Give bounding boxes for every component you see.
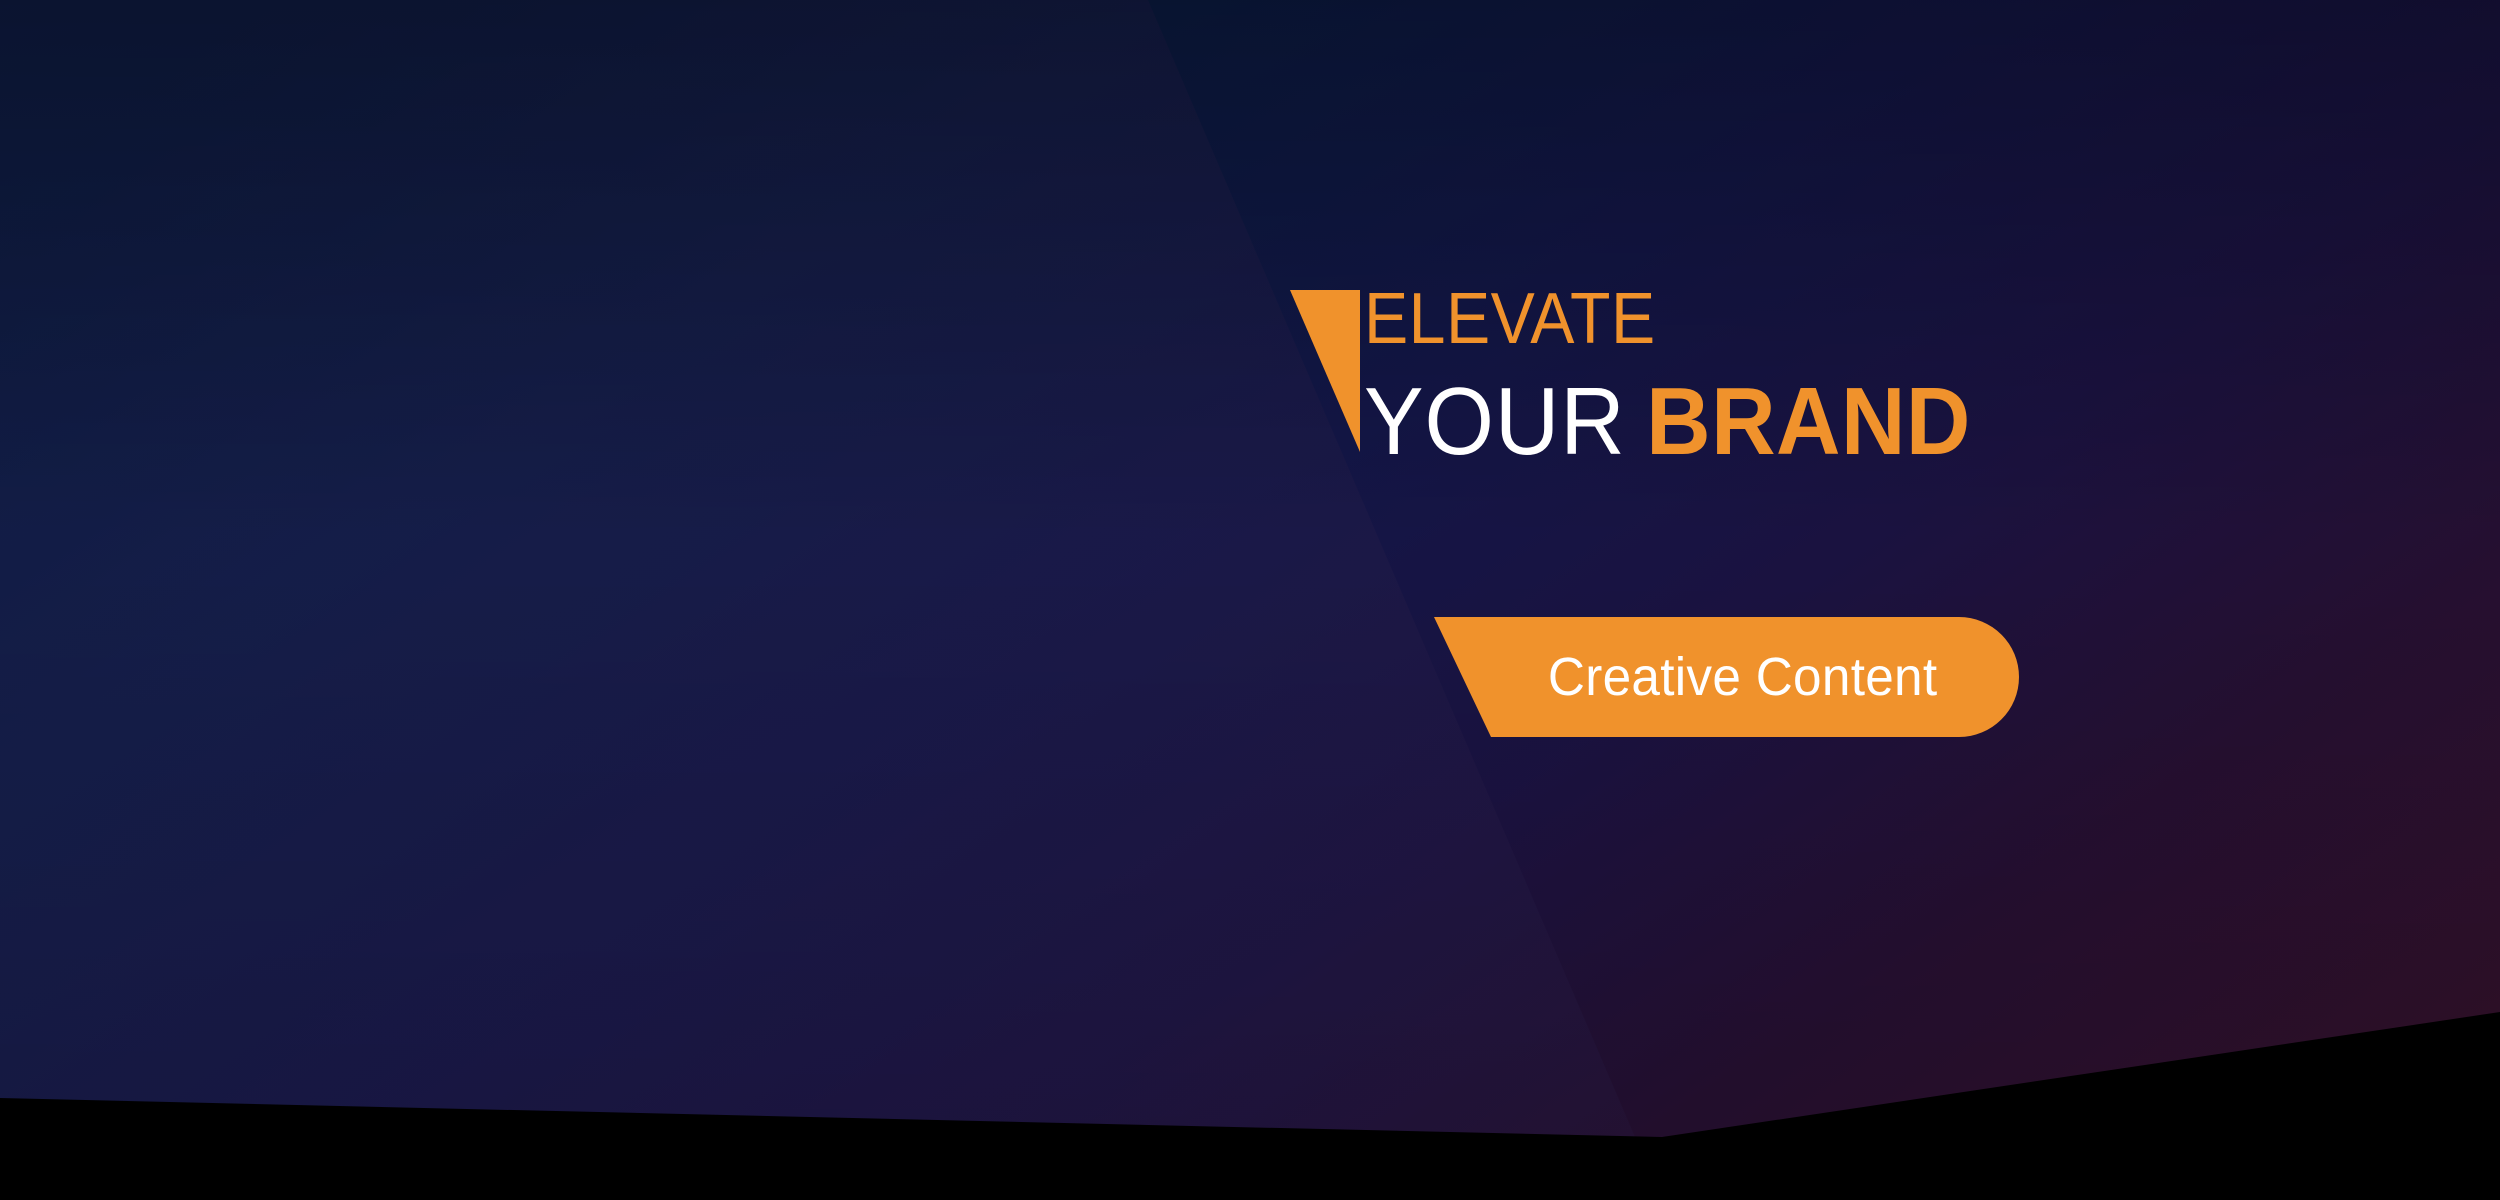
creative-content-cta-button[interactable]: Creative Content [1434,617,2019,737]
banner-background [0,0,2500,1200]
headline-text-block: ELEVATE YOURBRAND [1364,282,2054,472]
headline-line-elevate: ELEVATE [1364,282,1999,356]
headline-word-your: YOUR [1364,368,1626,475]
cta-label: Creative Content [1449,617,2005,737]
orange-wedge-icon [1288,290,1360,452]
headline-word-brand: BRAND [1646,368,1971,475]
promo-banner: ELEVATE YOURBRAND Creative Content [0,0,2500,1200]
background-vertical-shade [0,0,2500,1200]
headline-line-your-brand: YOURBRAND [1364,372,2006,472]
